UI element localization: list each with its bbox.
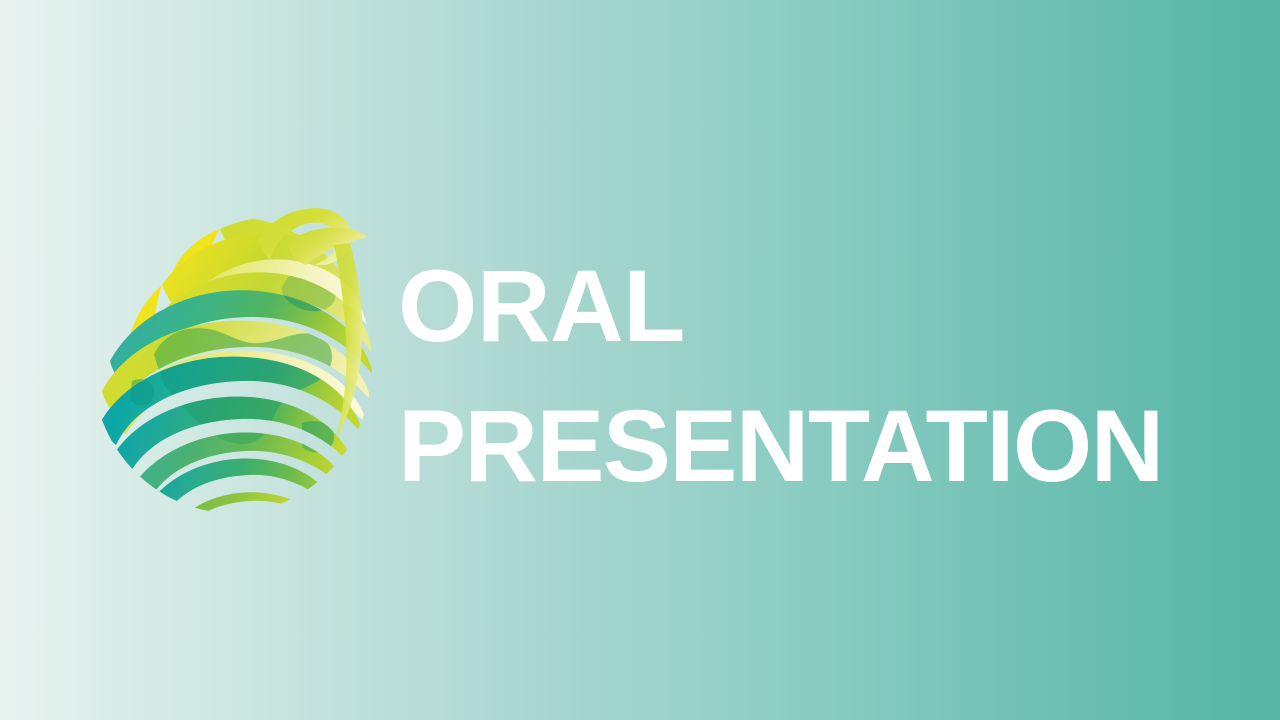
globe-bands [100,216,376,531]
presentation-slide: ORAL PRESENTATION [0,0,1280,720]
globe-ribbon-leaf-logo [92,205,387,520]
slide-title: ORAL PRESENTATION [398,236,1238,516]
title-line-presentation: PRESENTATION [398,376,1238,516]
globe-band-5 [176,492,324,531]
title-line-oral: ORAL [398,236,1238,376]
